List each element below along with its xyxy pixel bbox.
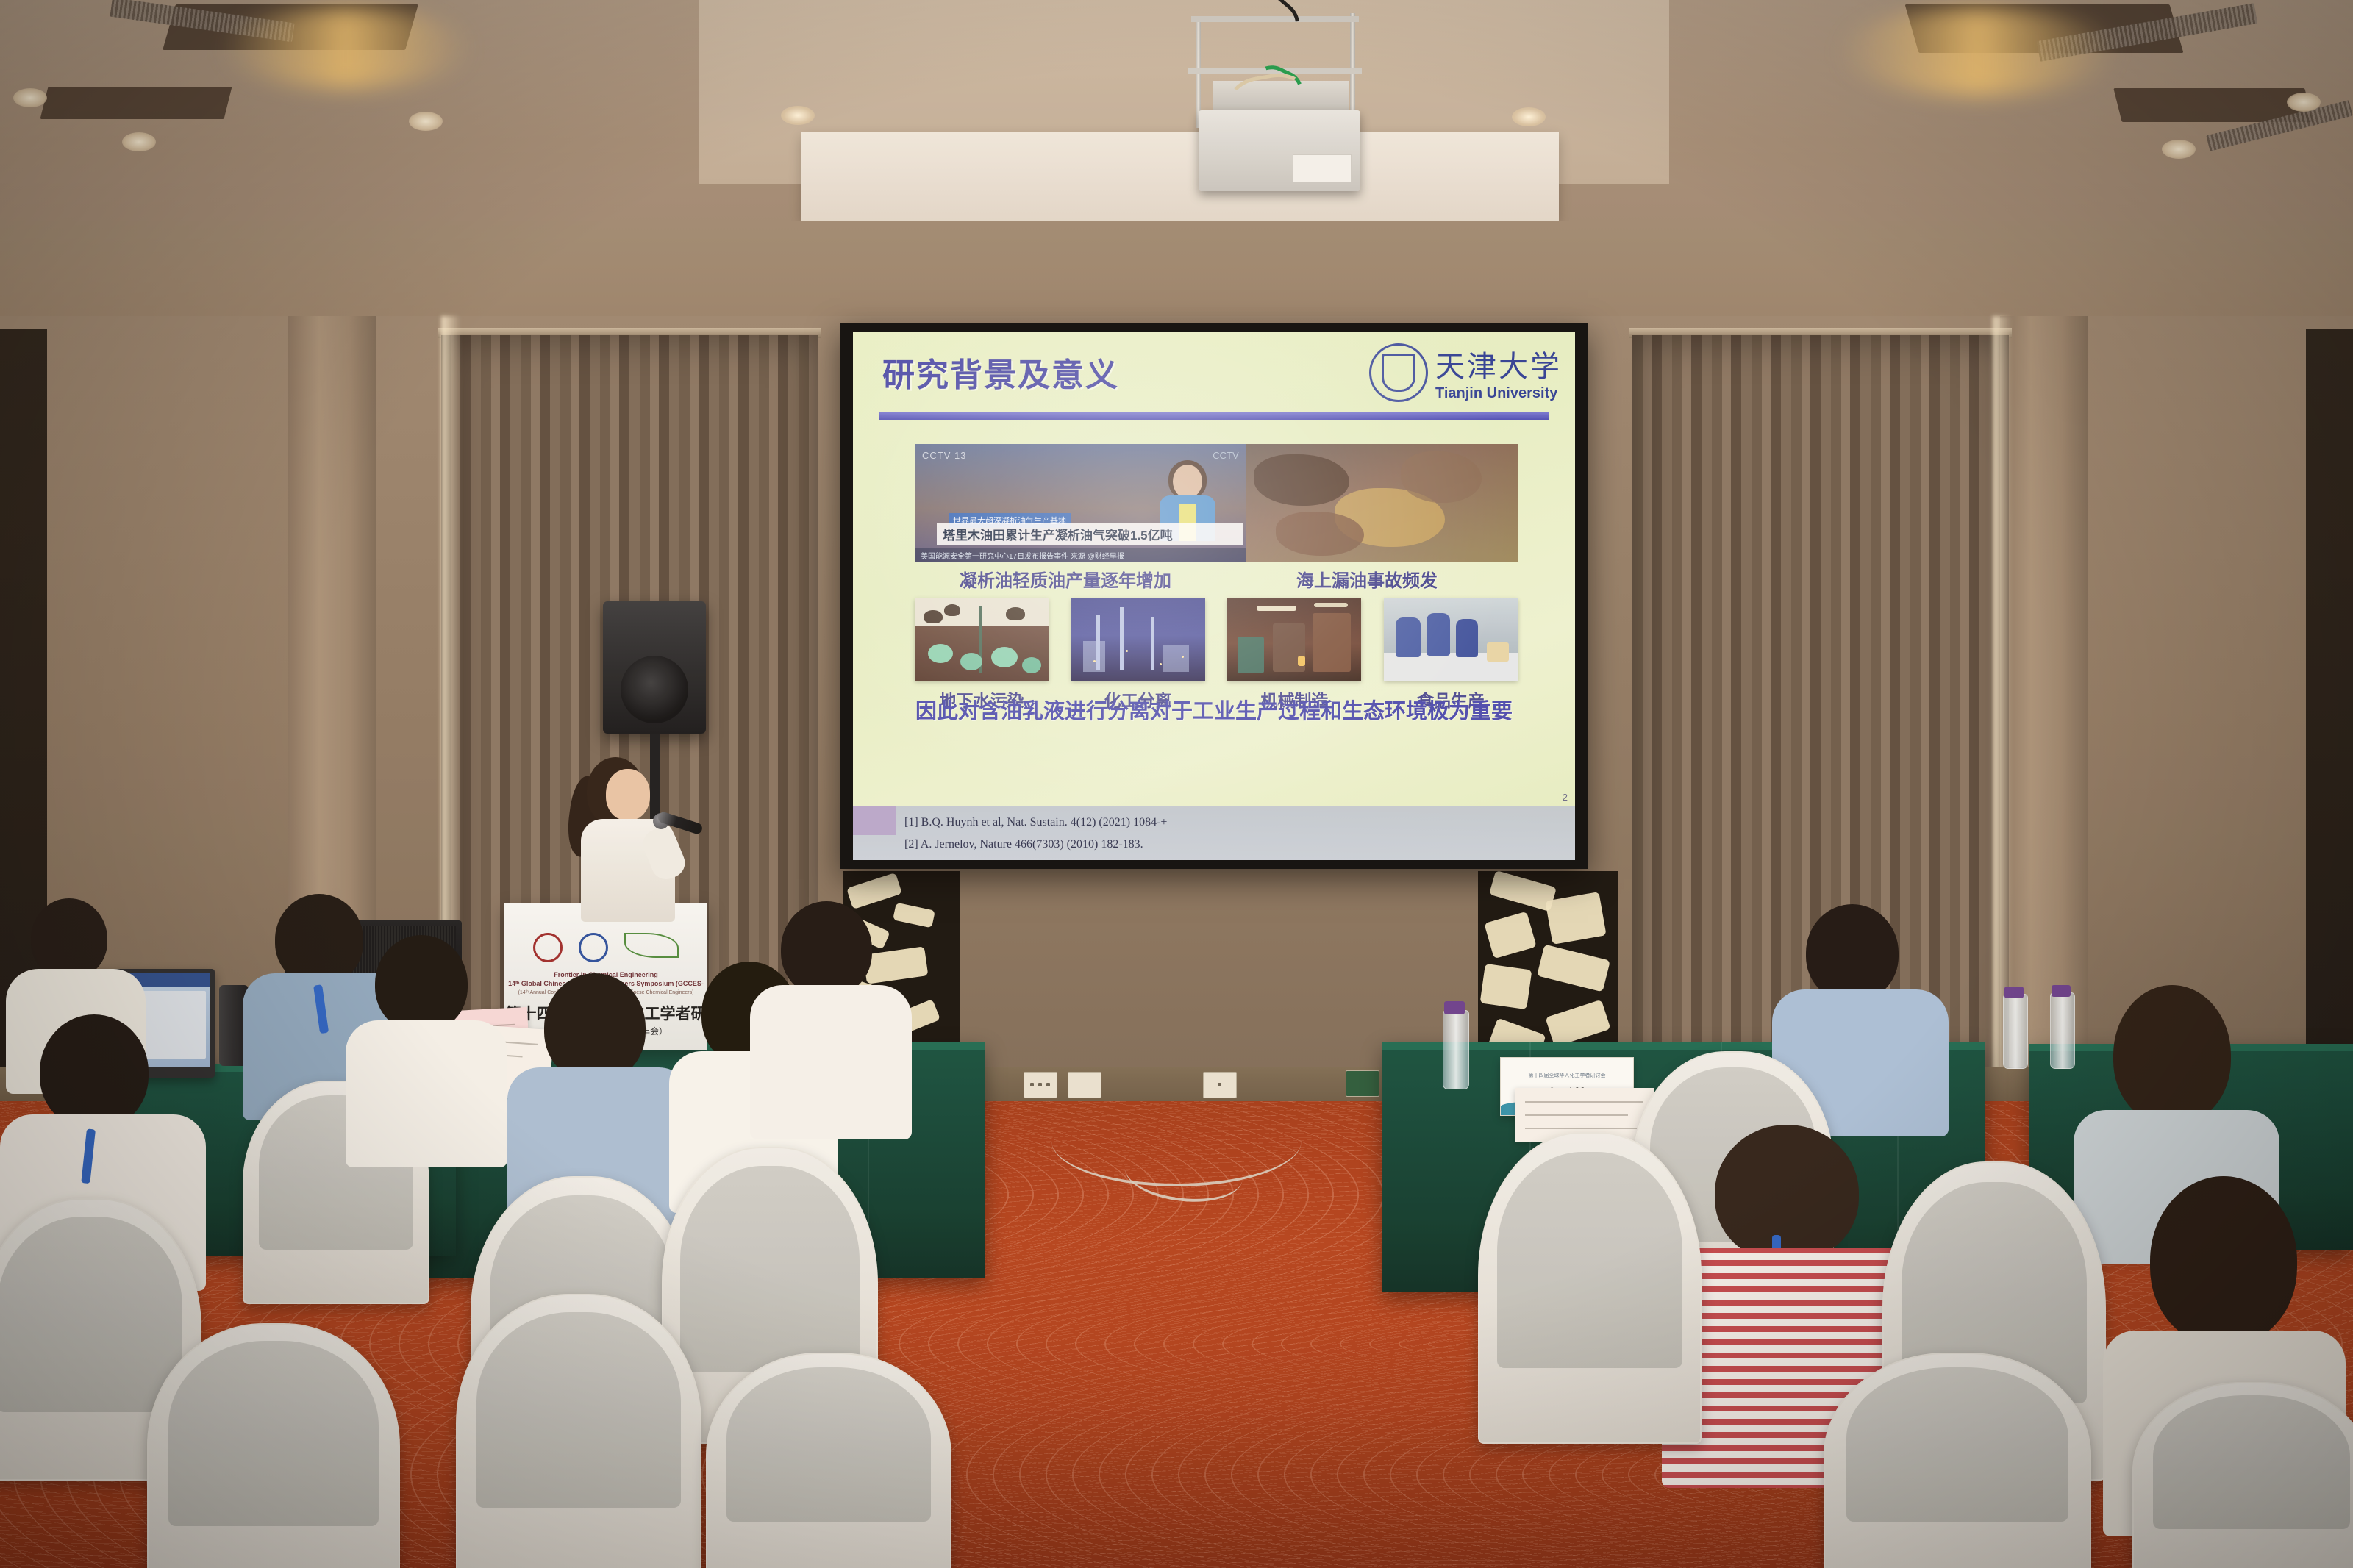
lattice-shape (1545, 892, 1606, 945)
oil-slick-shape (1276, 512, 1364, 556)
wall-socket-4[interactable] (1346, 1070, 1379, 1097)
attendee-head (2113, 985, 2231, 1125)
caption-condensate: 凝析油轻质油产量逐年增加 (915, 566, 1216, 592)
wall-socket-2[interactable] (1068, 1072, 1101, 1098)
presenter-face (606, 769, 650, 820)
tju-name-en: Tianjin University (1435, 385, 1562, 402)
food-production-thumbnail (1384, 598, 1518, 681)
contaminant-plume (991, 647, 1018, 667)
bottle-cap (2004, 987, 2024, 998)
distillation-tower (1151, 617, 1154, 670)
downlight-6 (2162, 140, 2196, 159)
slide-captions: 凝析油轻质油产量逐年增加 海上漏油事故频发 (915, 566, 1518, 592)
ceiling-projector (1169, 0, 1390, 198)
wall-panel-far-right (2306, 329, 2353, 1086)
wall-socket-3[interactable] (1203, 1072, 1237, 1098)
document-line (1525, 1114, 1628, 1116)
lattice-shape (1545, 1000, 1610, 1048)
presenter (560, 751, 722, 922)
projector-spec-label (1293, 154, 1352, 182)
document-line (1525, 1128, 1637, 1129)
downlight-2 (122, 132, 156, 151)
slide-news-row: CCTV 13 CCTV 世界最大超深凝析油气生产基地 塔里木油田累计生产凝析油… (915, 444, 1518, 562)
lattice-shape (1537, 945, 1610, 992)
overhead-light (1257, 606, 1296, 611)
cctv-watermark: CCTV (1213, 450, 1238, 461)
curtain-light-edge-right (1993, 316, 2012, 1085)
attendee-head (1806, 904, 1899, 1001)
slide-title: 研究背景及意义 (882, 348, 1119, 395)
document-line (1525, 1101, 1643, 1103)
chair-inner (168, 1341, 379, 1526)
podium-logo-row (504, 933, 707, 962)
chair-front-right (1824, 1353, 2091, 1568)
slide-conclusion: 因此对含油乳液进行分离对于工业生产过程和生态环境极为重要 (853, 694, 1575, 725)
downlight-7 (2287, 93, 2321, 112)
attendee-head (40, 1014, 149, 1129)
lattice-shape (1484, 912, 1536, 959)
contaminant-plume (928, 644, 953, 663)
anchor-head (1173, 465, 1202, 498)
slide-page-number: 2 (1563, 792, 1568, 803)
ceiling-coffer-left-2 (40, 87, 232, 119)
attendee-head (781, 901, 872, 997)
chemical-plant-thumbnail (1071, 598, 1205, 681)
chair-inner (2153, 1395, 2351, 1529)
downlight-1 (13, 88, 47, 107)
chair-inner (680, 1166, 860, 1372)
attendee-mid-2 (346, 935, 507, 1156)
plant-shape (924, 610, 943, 623)
groundwater-thumbnail (915, 598, 1049, 681)
bottle-cap (1444, 1001, 1465, 1014)
contaminant-plume (960, 653, 982, 670)
projection-screen: 研究背景及意义 天津大学 Tianjin University CCTV 13 … (853, 332, 1575, 860)
reference-1: [1] B.Q. Huynh et al, Nat. Sustain. 4(12… (904, 816, 1167, 829)
host-university-seal-icon (533, 933, 563, 962)
oil-slick-shape (1254, 454, 1349, 506)
tianjin-university-logo: 天津大学 Tianjin University (1369, 343, 1562, 402)
attendee-mid-5 (750, 901, 912, 1129)
oil-slick-shape (1401, 451, 1482, 503)
pa-speaker-left (603, 601, 706, 734)
conference-room-scene: 研究背景及意义 天津大学 Tianjin University CCTV 13 … (0, 0, 2353, 1568)
cctv-news-clip: CCTV 13 CCTV 世界最大超深凝析油气生产基地 塔里木油田累计生产凝析油… (915, 444, 1246, 562)
tju-shield-icon (1369, 343, 1428, 402)
overhead-light (1314, 603, 1348, 607)
news-headline: 塔里木油田累计生产凝析油气突破1.5亿吨 (937, 523, 1243, 545)
attendee-head (375, 935, 468, 1032)
indicator-light (1298, 656, 1305, 666)
chair-inner (0, 1217, 182, 1412)
cove-light-left (221, 7, 471, 88)
chair-inner (476, 1312, 680, 1508)
machinery-thumbnail (1227, 598, 1361, 681)
contaminant-plume (1022, 657, 1041, 673)
attendee-torso (750, 985, 912, 1139)
plant-light (1182, 656, 1184, 658)
oil-spill-photo (1246, 444, 1518, 562)
attendee-head (544, 973, 646, 1082)
line-worker (1396, 617, 1421, 657)
machine-part (1238, 637, 1264, 673)
water-bottle-far-right-1[interactable] (2003, 994, 2028, 1069)
plant-light (1093, 660, 1096, 662)
society-emblem-icon (579, 933, 608, 962)
downlight-4 (781, 106, 815, 125)
machine-part (1313, 613, 1351, 672)
tju-name-cn: 天津大学 (1435, 343, 1562, 385)
plant-light (1126, 650, 1128, 652)
bottle-cap (2052, 985, 2071, 997)
gacce-leaf-logo-icon (624, 933, 679, 958)
chair-front-mid (456, 1294, 701, 1568)
plant-light (1160, 663, 1162, 665)
chair-front-far-right (2132, 1382, 2353, 1568)
water-bottle-far-right-2[interactable] (2050, 992, 2075, 1069)
attendee-torso (346, 1020, 507, 1167)
chair-inner (1846, 1367, 2068, 1522)
lattice-shape (1480, 964, 1532, 1009)
line-worker (1456, 619, 1478, 657)
plant-shape (944, 604, 960, 616)
cctv-channel-logo: CCTV 13 (922, 450, 966, 461)
news-ticker: 美国能源安全第一研究中心17日发布报告事件 来源 @财经早报 (915, 548, 1246, 562)
chair-front-left (147, 1323, 400, 1568)
reference-tab (853, 806, 896, 835)
distillation-tower (1120, 607, 1124, 670)
downlight-3 (409, 112, 443, 131)
chair-front-mid-2 (706, 1353, 951, 1568)
line-worker (1427, 613, 1450, 656)
attendee-head (1715, 1125, 1859, 1261)
attendee-head (31, 898, 107, 979)
speaker-cone (621, 656, 688, 723)
product-item (1487, 642, 1509, 662)
caption-oil-spill: 海上漏油事故频发 (1216, 566, 1518, 592)
chair (1478, 1132, 1702, 1444)
water-bottle-right[interactable] (1443, 1010, 1469, 1089)
wall-socket-1[interactable] (1024, 1072, 1057, 1098)
projector-cable-black (1230, 0, 1308, 60)
cove-light-right (1838, 7, 2118, 96)
chair-inner (1497, 1152, 1682, 1368)
plant-structure (1163, 645, 1189, 672)
plant-structure (1083, 641, 1105, 672)
attendee-head (2150, 1176, 2297, 1345)
chair-inner (726, 1367, 930, 1522)
name-card-header: 第十四届全球华人化工学者研讨会 (1501, 1072, 1633, 1079)
reference-2: [2] A. Jernelov, Nature 466(7303) (2010)… (904, 838, 1143, 851)
slide-title-divider (879, 412, 1549, 420)
downlight-5 (1512, 107, 1546, 126)
slide-reference-bar: [1] B.Q. Huynh et al, Nat. Sustain. 4(12… (853, 806, 1575, 860)
plant-shape (1006, 607, 1025, 620)
